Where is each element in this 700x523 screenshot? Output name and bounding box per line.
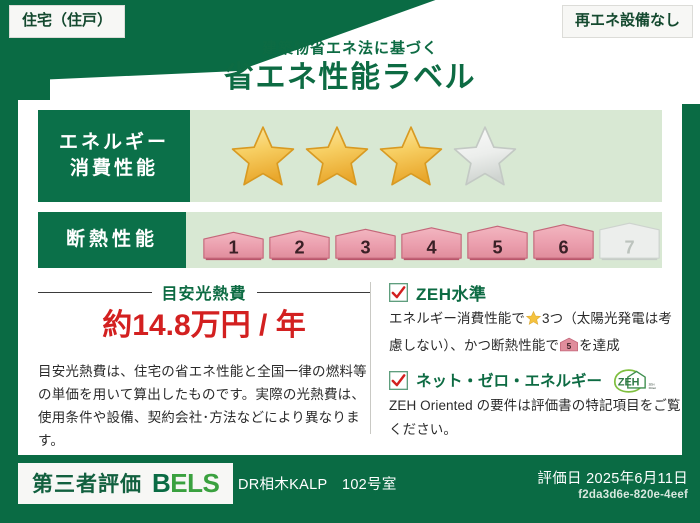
svg-text:6: 6 — [558, 237, 568, 257]
inline-house-level-icon: 5 — [559, 340, 579, 355]
insulation-house-filled-icon: 4 — [398, 218, 465, 262]
star-rating — [190, 110, 662, 202]
evaluation-id: f2da3d6e-820e-4eef — [578, 489, 688, 501]
zeh-standard-title: ZEH水準 — [416, 280, 487, 305]
bels-logo-els: ELS — [170, 468, 219, 498]
utility-cost-note: 目安光熱費は、住宅の省エネ性能と全国一律の燃料等の単価を用いて算出したものです。… — [38, 360, 370, 452]
svg-text:ZEH: ZEH — [618, 376, 640, 388]
utility-cost-column: 目安光熱費 約14.8万円 / 年 目安光熱費は、住宅の省エネ性能と全国一律の燃… — [18, 276, 370, 452]
svg-text:2: 2 — [294, 237, 304, 257]
insulation-performance-row: 断熱性能 1234567 — [38, 212, 662, 268]
label-header: 建築物省エネ法に基づく 省エネ性能ラベル 住宅（住戸） 再エネ設備なし — [0, 0, 700, 104]
bels-logo-b: B — [152, 468, 170, 498]
star-filled-icon — [230, 124, 296, 188]
svg-text:3: 3 — [360, 237, 370, 257]
label-footer: 第三者評価 BELS DR相木KALP 102号室 評価日 2025年6月11日… — [0, 455, 700, 523]
label-subtitle: 建築物省エネ法に基づく — [0, 40, 700, 58]
checkbox-checked-icon — [389, 283, 408, 302]
net-zero-energy-item: ネット・ゼロ・エネルギー ZEH ZEH Oriented — [389, 368, 682, 442]
utility-cost-heading: 目安光熱費 — [38, 280, 370, 304]
energy-label-line2: 消費性能 — [70, 156, 158, 182]
svg-text:Oriented: Oriented — [649, 386, 656, 390]
insulation-house-filled-icon: 1 — [200, 218, 267, 262]
bels-logo: BELS — [152, 470, 219, 496]
net-zero-energy-header: ネット・ゼロ・エネルギー ZEH ZEH Oriented — [389, 368, 682, 392]
net-zero-energy-description: ZEH Oriented の要件は評価書の特記項目をご覧ください。 — [389, 394, 682, 442]
svg-text:5: 5 — [492, 237, 502, 257]
zeh-desc-part-c: を達成 — [579, 338, 620, 353]
label-lower-section: 目安光熱費 約14.8万円 / 年 目安光熱費は、住宅の省エネ性能と全国一律の燃… — [18, 276, 682, 452]
energy-performance-row: エネルギー 消費性能 — [38, 110, 662, 202]
label-content-card: エネルギー 消費性能 断熱性能 1234567 目安光熱費 — [18, 100, 682, 455]
insulation-performance-label-box: 断熱性能 — [38, 212, 186, 268]
star-filled-icon — [378, 124, 444, 188]
badge-building-type: 住宅（住戸） — [10, 6, 124, 37]
star-filled-icon — [304, 124, 370, 188]
heading-rule-right — [257, 292, 371, 293]
svg-text:5: 5 — [567, 342, 572, 351]
zeh-column: ZEH水準 エネルギー消費性能で3つ（太陽光発電は考慮しない）、かつ断熱性能で5… — [371, 276, 682, 452]
bels-evaluation-badge: 第三者評価 BELS — [18, 463, 233, 504]
energy-performance-label: 建築物省エネ法に基づく 省エネ性能ラベル 住宅（住戸） 再エネ設備なし エネルギ… — [0, 0, 700, 523]
energy-label-line1: エネルギー — [59, 130, 169, 156]
label-title: 省エネ性能ラベル — [0, 60, 700, 96]
zeh-desc-part-a: エネルギー消費性能で — [389, 311, 525, 326]
inline-star-icon — [525, 314, 542, 329]
label-title-block: 建築物省エネ法に基づく 省エネ性能ラベル — [0, 40, 700, 96]
insulation-house-filled-icon: 3 — [332, 218, 399, 262]
checkbox-checked-icon — [389, 371, 408, 390]
insulation-house-filled-icon: 5 — [464, 218, 531, 262]
zeh-standard-description: エネルギー消費性能で3つ（太陽光発電は考慮しない）、かつ断熱性能で5を達成 — [389, 307, 682, 360]
utility-cost-heading-text: 目安光熱費 — [152, 280, 257, 304]
heading-rule-left — [38, 292, 152, 293]
zeh-oriented-logo-icon: ZEH ZEH Oriented — [610, 368, 650, 392]
svg-text:4: 4 — [426, 237, 436, 257]
badge-renewable-equipment: 再エネ設備なし — [563, 6, 692, 37]
net-zero-energy-title: ネット・ゼロ・エネルギー — [416, 369, 602, 391]
insulation-house-filled-icon: 2 — [266, 218, 333, 262]
insulation-label: 断熱性能 — [66, 227, 158, 253]
star-empty-icon — [452, 124, 518, 188]
zeh-standard-header: ZEH水準 — [389, 280, 682, 305]
insulation-house-empty-icon: 7 — [596, 218, 663, 262]
svg-text:1: 1 — [228, 237, 238, 257]
insulation-level-scale: 1234567 — [186, 212, 662, 268]
third-party-evaluation-text: 第三者評価 — [32, 468, 142, 498]
insulation-house-filled-icon: 6 — [530, 218, 597, 262]
property-unit-name: DR相木KALP 102号室 — [238, 473, 397, 494]
svg-text:7: 7 — [624, 237, 634, 257]
energy-performance-label-box: エネルギー 消費性能 — [38, 110, 190, 202]
evaluation-date: 評価日 2025年6月11日 — [537, 467, 688, 488]
zeh-standard-item: ZEH水準 エネルギー消費性能で3つ（太陽光発電は考慮しない）、かつ断熱性能で5… — [389, 280, 682, 360]
utility-cost-value: 約14.8万円 / 年 — [38, 306, 370, 346]
